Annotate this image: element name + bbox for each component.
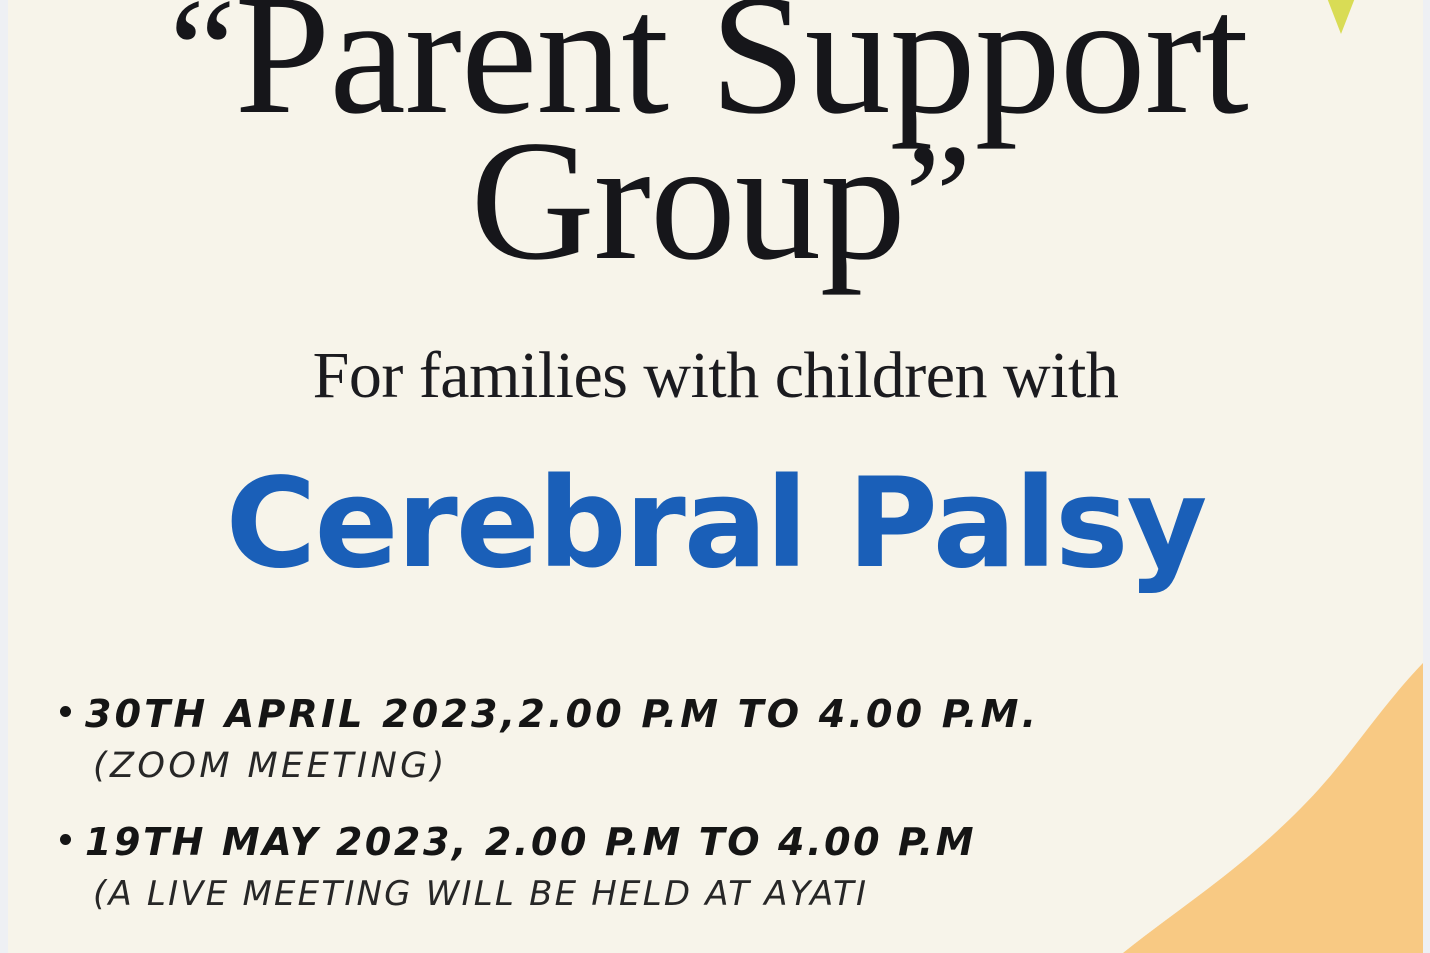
bullet-dot-icon — [60, 834, 71, 845]
event-secondary-text: (A LIVE MEETING WILL BE HELD AT AYATI — [93, 874, 1400, 914]
poster-subtitle: For families with children with — [8, 338, 1423, 414]
poster-headline: Cerebral Palsy — [8, 462, 1423, 586]
event-secondary-text: (ZOOM MEETING) — [93, 746, 1400, 786]
close-quote-glyph: ” — [905, 114, 971, 280]
poster-canvas: “Parent Support Group” For families with… — [8, 0, 1423, 953]
open-quote-glyph: “ — [169, 0, 235, 134]
list-item: 30TH APRIL 2023,2.00 P.M TO 4.00 P.M. (Z… — [60, 692, 1400, 786]
event-primary-line: 30TH APRIL 2023,2.00 P.M TO 4.00 P.M. — [60, 692, 1400, 736]
title-line-two-text: Group — [470, 106, 905, 296]
event-primary-text: 19TH MAY 2023, 2.00 P.M TO 4.00 P.M — [85, 820, 976, 864]
event-primary-text: 30TH APRIL 2023,2.00 P.M TO 4.00 P.M. — [85, 692, 1039, 736]
bullet-dot-icon — [60, 706, 71, 717]
list-item: 19TH MAY 2023, 2.00 P.M TO 4.00 P.M (A L… — [60, 820, 1400, 914]
event-list: 30TH APRIL 2023,2.00 P.M TO 4.00 P.M. (Z… — [60, 692, 1400, 948]
poster-root: “Parent Support Group” For families with… — [0, 0, 1430, 953]
poster-title: “Parent Support Group” — [8, 0, 1423, 282]
event-primary-line: 19TH MAY 2023, 2.00 P.M TO 4.00 P.M — [60, 820, 1400, 864]
